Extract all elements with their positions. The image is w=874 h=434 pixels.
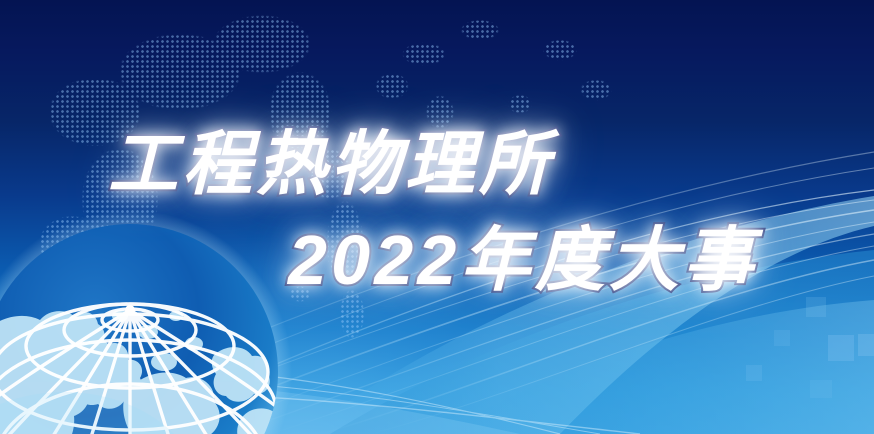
wireframe-globe-icon (0, 212, 298, 434)
accent-square-4 (858, 334, 874, 356)
accent-square-3 (828, 335, 854, 361)
page-title-line-1: 工程热物理所 (108, 126, 553, 202)
accent-square-2 (774, 330, 790, 346)
accent-square-1 (806, 297, 826, 317)
accent-square-6 (810, 380, 832, 398)
event-banner: 工程热物理所 2022年度大事 (0, 0, 874, 434)
accent-square-5 (746, 365, 762, 381)
page-title-line-2: 2022年度大事 (288, 222, 757, 298)
